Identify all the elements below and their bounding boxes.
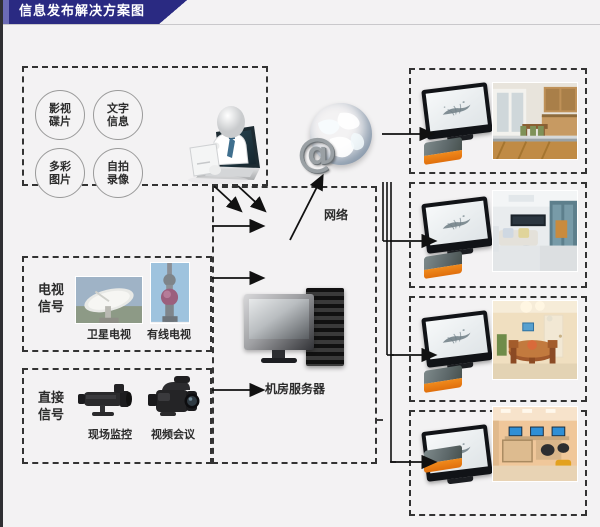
source-circle-text-info: 文字 信息: [93, 90, 143, 140]
diagram-canvas: 信息发布解决方案图 影视 碟片 文字 信息 多彩 图片 自拍 录像: [0, 0, 600, 527]
server-monitor-screen: [249, 299, 309, 339]
source-circle-images: 多彩 图片: [35, 148, 85, 198]
server-and-monitor-icon: [244, 294, 348, 374]
server-label: 机房服务器: [240, 382, 350, 397]
server-monitor: [244, 294, 314, 350]
title-banner: 信息发布解决方案图: [3, 0, 187, 24]
dining-kitchen-room-photo: [492, 82, 578, 160]
at-symbol-icon: @: [297, 130, 337, 176]
direct-signal-label-line1: 直接: [30, 390, 72, 407]
circle-line-1: 文字: [107, 102, 129, 115]
network-label: 网络: [310, 208, 362, 223]
tv-signal-label-line2: 信号: [30, 299, 72, 316]
source-circle-selfie-video: 自拍 录像: [93, 148, 143, 198]
title-banner-tail: [159, 0, 187, 24]
circle-line-2: 碟片: [49, 115, 71, 128]
cable-tv-caption: 有线电视: [131, 328, 207, 341]
tv-signal-label: 电视 信号: [30, 282, 72, 316]
computer-lab-office-photo: [492, 406, 578, 482]
video-camcorder-icon: [146, 372, 208, 422]
source-circle-video-disc: 影视 碟片: [35, 90, 85, 140]
person-with-laptop-icon: [170, 92, 266, 184]
direct-signal-label: 直接 信号: [30, 390, 72, 424]
page-title: 信息发布解决方案图: [19, 0, 145, 24]
video-conference-caption: 视频会议: [133, 428, 213, 441]
circle-line-1: 多彩: [49, 160, 71, 173]
page-left-edge: [0, 0, 3, 527]
direct-signal-label-line2: 信号: [30, 407, 72, 424]
title-banner-body: 信息发布解决方案图: [3, 0, 159, 24]
flat-tv-icon-3: [421, 310, 493, 368]
circle-line-1: 影视: [49, 102, 71, 115]
title-underline: [3, 24, 600, 25]
circle-line-2: 信息: [107, 115, 129, 128]
warm-dining-room-photo: [492, 300, 578, 380]
tv-tower-photo: [150, 262, 190, 324]
flat-tv-icon-1: [421, 82, 493, 140]
flat-tv-icon-2: [421, 196, 493, 254]
tv-signal-label-line1: 电视: [30, 282, 72, 299]
circle-line-2: 图片: [49, 173, 71, 186]
monitor-base: [261, 358, 297, 363]
circle-line-1: 自拍: [107, 160, 129, 173]
circle-line-2: 录像: [107, 173, 129, 186]
modern-living-room-photo: [492, 190, 578, 272]
satellite-dish-photo: [75, 276, 143, 324]
surveillance-camera-icon: [76, 378, 140, 422]
